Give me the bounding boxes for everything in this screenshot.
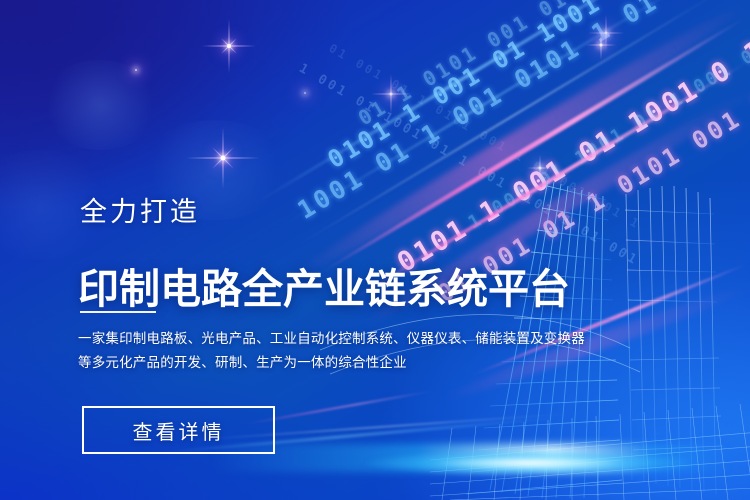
hero-description-line-2: 等多元化产品的开发、研制、生产为一体的综合性企业 bbox=[78, 351, 578, 375]
view-details-button[interactable]: 查看详情 bbox=[82, 406, 275, 454]
hero-headline: 印制电路全产业链系统平台 bbox=[78, 265, 570, 313]
hero-banner: 1 001 01 1001 01 1 001 0101 1 01 001 01 … bbox=[0, 0, 750, 500]
hero-description: 一家集印制电路板、光电产品、工业自动化控制系统、仪器仪表、储能装置及变换器 等多… bbox=[78, 327, 578, 375]
hero-description-line-1: 一家集印制电路板、光电产品、工业自动化控制系统、仪器仪表、储能装置及变换器 bbox=[78, 327, 578, 351]
hero-eyebrow: 全力打造 bbox=[80, 196, 200, 230]
hero-divider bbox=[80, 311, 156, 313]
hero-content: 全力打造 印制电路全产业链系统平台 一家集印制电路板、光电产品、工业自动化控制系… bbox=[0, 0, 750, 500]
